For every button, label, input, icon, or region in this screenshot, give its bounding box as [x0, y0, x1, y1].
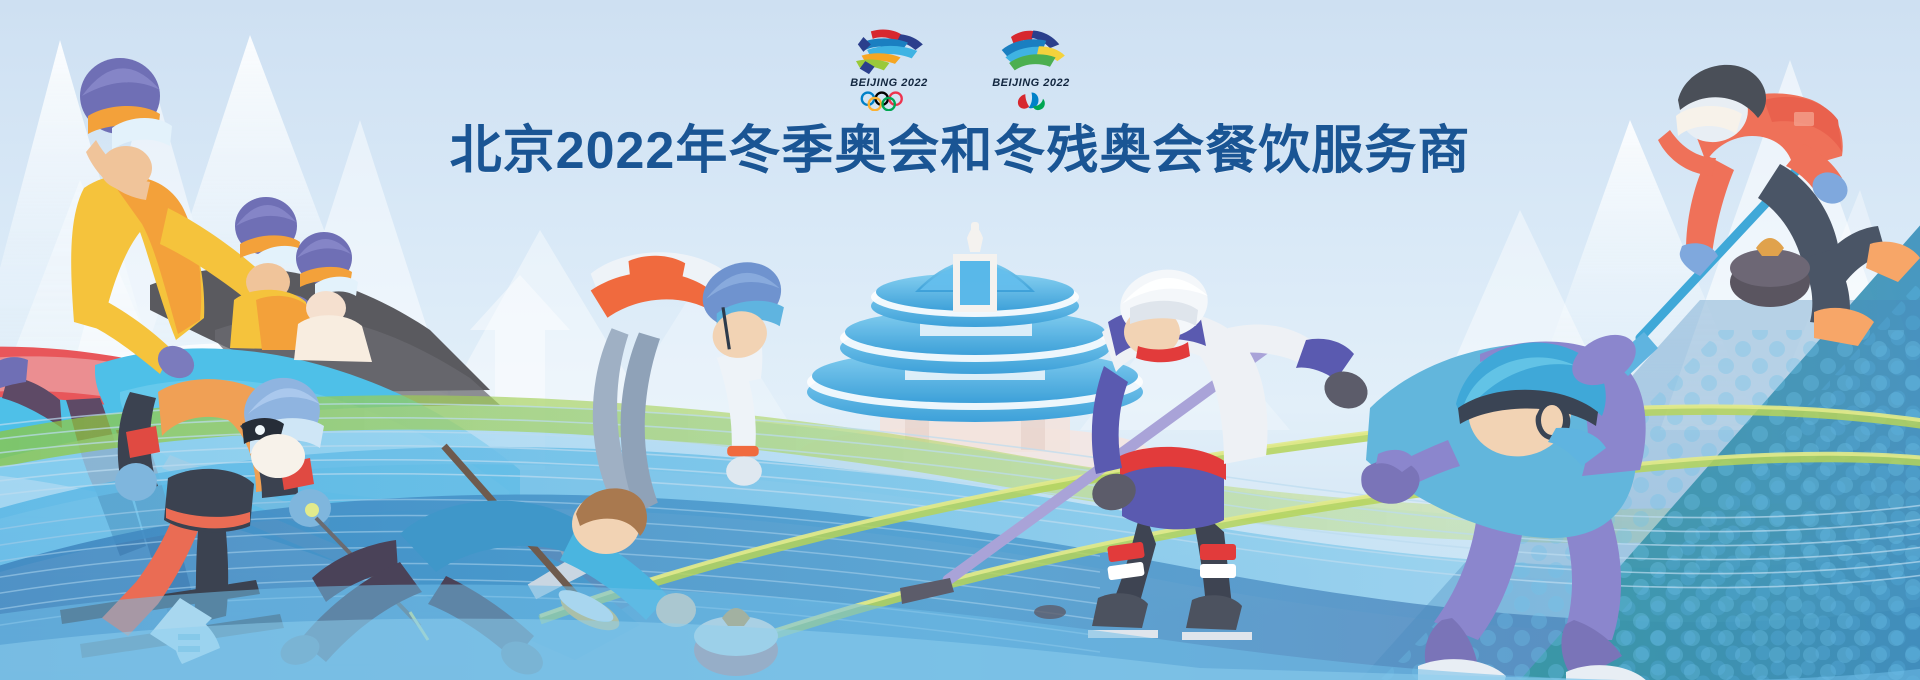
- hockey-puck: [1034, 605, 1066, 619]
- beijing-2022-catering-banner: BEIJING 2022 BEIJING 2022: [0, 0, 1920, 680]
- scene-illustration: [0, 0, 1920, 680]
